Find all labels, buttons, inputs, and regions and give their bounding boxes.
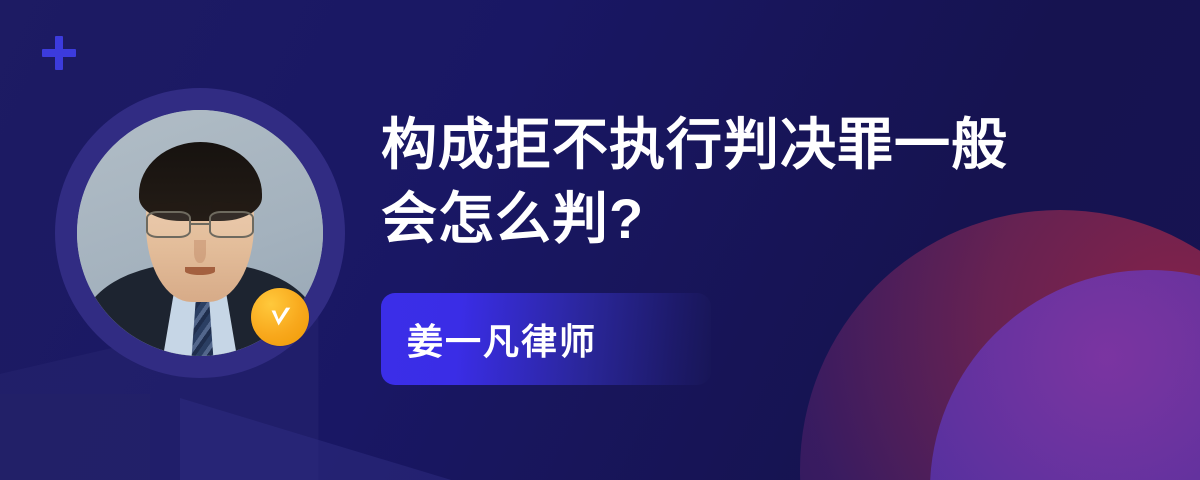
author-name-badge[interactable]: 姜一凡律师 bbox=[381, 293, 711, 385]
page-title: 构成拒不执行判决罪一般会怎么判? bbox=[381, 108, 1041, 257]
avatar[interactable] bbox=[55, 88, 345, 378]
lawyer-qa-banner: 构成拒不执行判决罪一般会怎么判? 姜一凡律师 bbox=[0, 0, 1200, 480]
headline-block: 构成拒不执行判决罪一般会怎么判? bbox=[381, 108, 1171, 257]
plus-icon-bar-vertical bbox=[55, 36, 63, 70]
plus-icon bbox=[38, 32, 80, 74]
decorative-polygon-corner bbox=[0, 394, 150, 480]
portrait-nose bbox=[194, 240, 206, 262]
glasses-lens-right bbox=[209, 211, 254, 238]
portrait-glasses bbox=[146, 211, 254, 238]
author-name-label: 姜一凡律师 bbox=[381, 313, 597, 365]
glasses-bridge bbox=[191, 223, 208, 225]
verified-check-icon[interactable] bbox=[251, 288, 309, 346]
glasses-lens-left bbox=[146, 211, 191, 238]
portrait-mouth bbox=[185, 267, 215, 274]
